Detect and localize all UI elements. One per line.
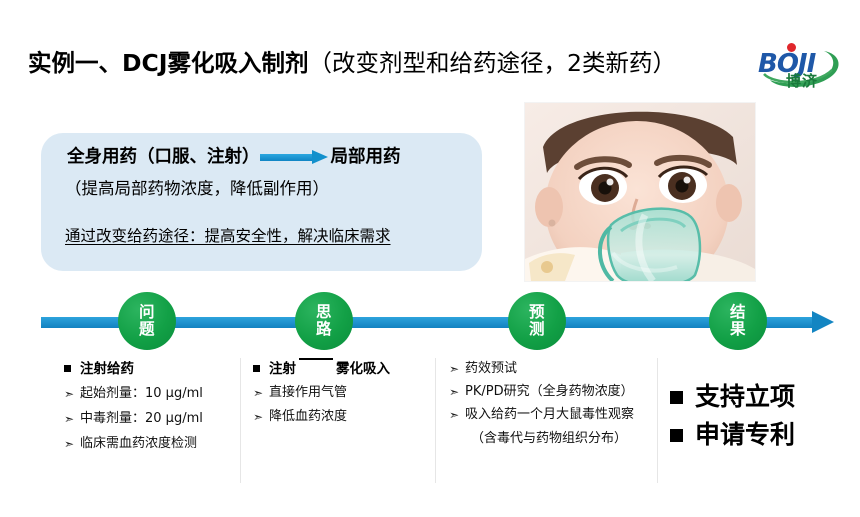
column-approach-header-left: 注射: [269, 358, 296, 380]
column-problem-header: 注射给药: [80, 358, 134, 380]
info-line-3: 通过改变给药途径：提高安全性，解决临床需求: [65, 225, 391, 247]
arrow-bullet-icon: ➣: [449, 358, 460, 380]
strategy-info-box: 全身用药（口服、注射） 局部用药 （提高局部药物浓度，降低副作用） 通过改变给药…: [41, 133, 482, 271]
arrow-bullet-icon: ➣: [64, 433, 75, 455]
column-prediction-item-2: PK/PD研究（全身药物浓度）: [465, 381, 634, 403]
column-problem-item-3: 临床需血药浓度检测: [80, 433, 197, 455]
arrow-bullet-icon: ➣: [253, 406, 264, 428]
arrow-bullet-icon: ➣: [449, 404, 460, 426]
list-item: 注射给药: [64, 358, 236, 380]
info-line-1-left: 全身用药（口服、注射）: [67, 145, 260, 169]
list-item: ➣ 中毒剂量：20 μg/ml: [64, 408, 236, 430]
column-prediction-subitem: （含毒代与药物组织分布）: [449, 427, 654, 446]
arrow-bullet-icon: ➣: [253, 382, 264, 404]
timeline-arrow-icon: [812, 311, 834, 333]
column-approach-item-2: 降低血药浓度: [269, 406, 347, 428]
timeline-stage-problem-char1: 问: [139, 304, 155, 321]
info-line-1: 全身用药（口服、注射） 局部用药: [67, 145, 401, 169]
square-bullet-icon: [670, 429, 683, 442]
timeline-stage-prediction-char2: 测: [529, 321, 545, 338]
column-divider-3: [657, 358, 658, 483]
square-bullet-icon: [64, 365, 71, 372]
column-problem-item-2: 中毒剂量：20 μg/ml: [80, 408, 203, 430]
list-item: 注射 雾化吸入: [253, 358, 431, 380]
right-arrow-icon: [260, 150, 330, 164]
column-prediction-item-3: 吸入给药一个月大鼠毒性观察: [465, 404, 634, 426]
timeline-stage-approach[interactable]: 思 路: [295, 292, 353, 350]
timeline-stage-approach-char2: 路: [316, 321, 332, 338]
column-problem: 注射给药 ➣ 起始剂量：10 μg/ml ➣ 中毒剂量：20 μg/ml ➣ 临…: [64, 358, 236, 458]
timeline: 问 题 思 路 预 测 结 果: [0, 292, 860, 358]
list-item: 支持立项: [670, 386, 856, 408]
baby-nebulizer-illustration-icon: [525, 103, 755, 281]
column-approach-item-1: 直接作用气管: [269, 382, 347, 404]
timeline-stage-prediction-char1: 预: [529, 304, 545, 321]
column-prediction: ➣ 药效预试 ➣ PK/PD研究（全身药物浓度） ➣ 吸入给药一个月大鼠毒性观察…: [449, 358, 654, 446]
column-result: 支持立项 申请专利: [670, 386, 856, 462]
dash-icon: [299, 358, 333, 360]
square-bullet-icon: [670, 391, 683, 404]
list-item: ➣ 降低血药浓度: [253, 406, 431, 428]
content-columns: 注射给药 ➣ 起始剂量：10 μg/ml ➣ 中毒剂量：20 μg/ml ➣ 临…: [0, 358, 860, 483]
page-title-main: 实例一、DCJ雾化吸入制剂: [28, 49, 309, 77]
column-prediction-item-1: 药效预试: [465, 358, 517, 380]
arrow-bullet-icon: ➣: [64, 383, 75, 405]
list-item: ➣ 起始剂量：10 μg/ml: [64, 383, 236, 405]
logo-chinese-text: 博济: [786, 73, 818, 89]
slide-canvas: 实例一、DCJ雾化吸入制剂（改变剂型和给药途径，2类新药） BOJI 博济 全身…: [0, 0, 860, 517]
timeline-stage-result[interactable]: 结 果: [709, 292, 767, 350]
info-line-2: （提高局部药物浓度，降低副作用）: [65, 177, 329, 201]
column-result-item-1: 支持立项: [695, 386, 795, 408]
column-divider-1: [240, 358, 241, 483]
list-item: ➣ 吸入给药一个月大鼠毒性观察: [449, 404, 654, 426]
column-approach-header-right: 雾化吸入: [336, 358, 390, 380]
arrow-bullet-icon: ➣: [64, 408, 75, 430]
list-item: ➣ 直接作用气管: [253, 382, 431, 404]
page-title: 实例一、DCJ雾化吸入制剂（改变剂型和给药途径，2类新药）: [28, 46, 728, 80]
timeline-stage-prediction[interactable]: 预 测: [508, 292, 566, 350]
timeline-stage-approach-char1: 思: [316, 304, 332, 321]
info-line-1-right: 局部用药: [331, 145, 401, 169]
boji-logo: BOJI 博济: [756, 40, 854, 102]
page-title-sub: （改变剂型和给药途径，2类新药）: [309, 49, 676, 77]
column-approach: 注射 雾化吸入 ➣ 直接作用气管 ➣ 降低血药浓度: [253, 358, 431, 430]
square-bullet-icon: [253, 365, 260, 372]
list-item: ➣ 药效预试: [449, 358, 654, 380]
column-result-item-2: 申请专利: [695, 424, 795, 446]
arrow-bullet-icon: ➣: [449, 381, 460, 403]
timeline-stage-problem[interactable]: 问 题: [118, 292, 176, 350]
baby-nebulizer-photo: [524, 102, 756, 282]
timeline-stage-result-char1: 结: [730, 304, 746, 321]
timeline-stage-result-char2: 果: [730, 321, 746, 338]
list-item: ➣ PK/PD研究（全身药物浓度）: [449, 381, 654, 403]
column-problem-item-1: 起始剂量：10 μg/ml: [80, 383, 203, 405]
column-divider-2: [435, 358, 436, 483]
timeline-stage-problem-char2: 题: [139, 321, 155, 338]
list-item: 申请专利: [670, 424, 856, 446]
list-item: ➣ 临床需血药浓度检测: [64, 433, 236, 455]
